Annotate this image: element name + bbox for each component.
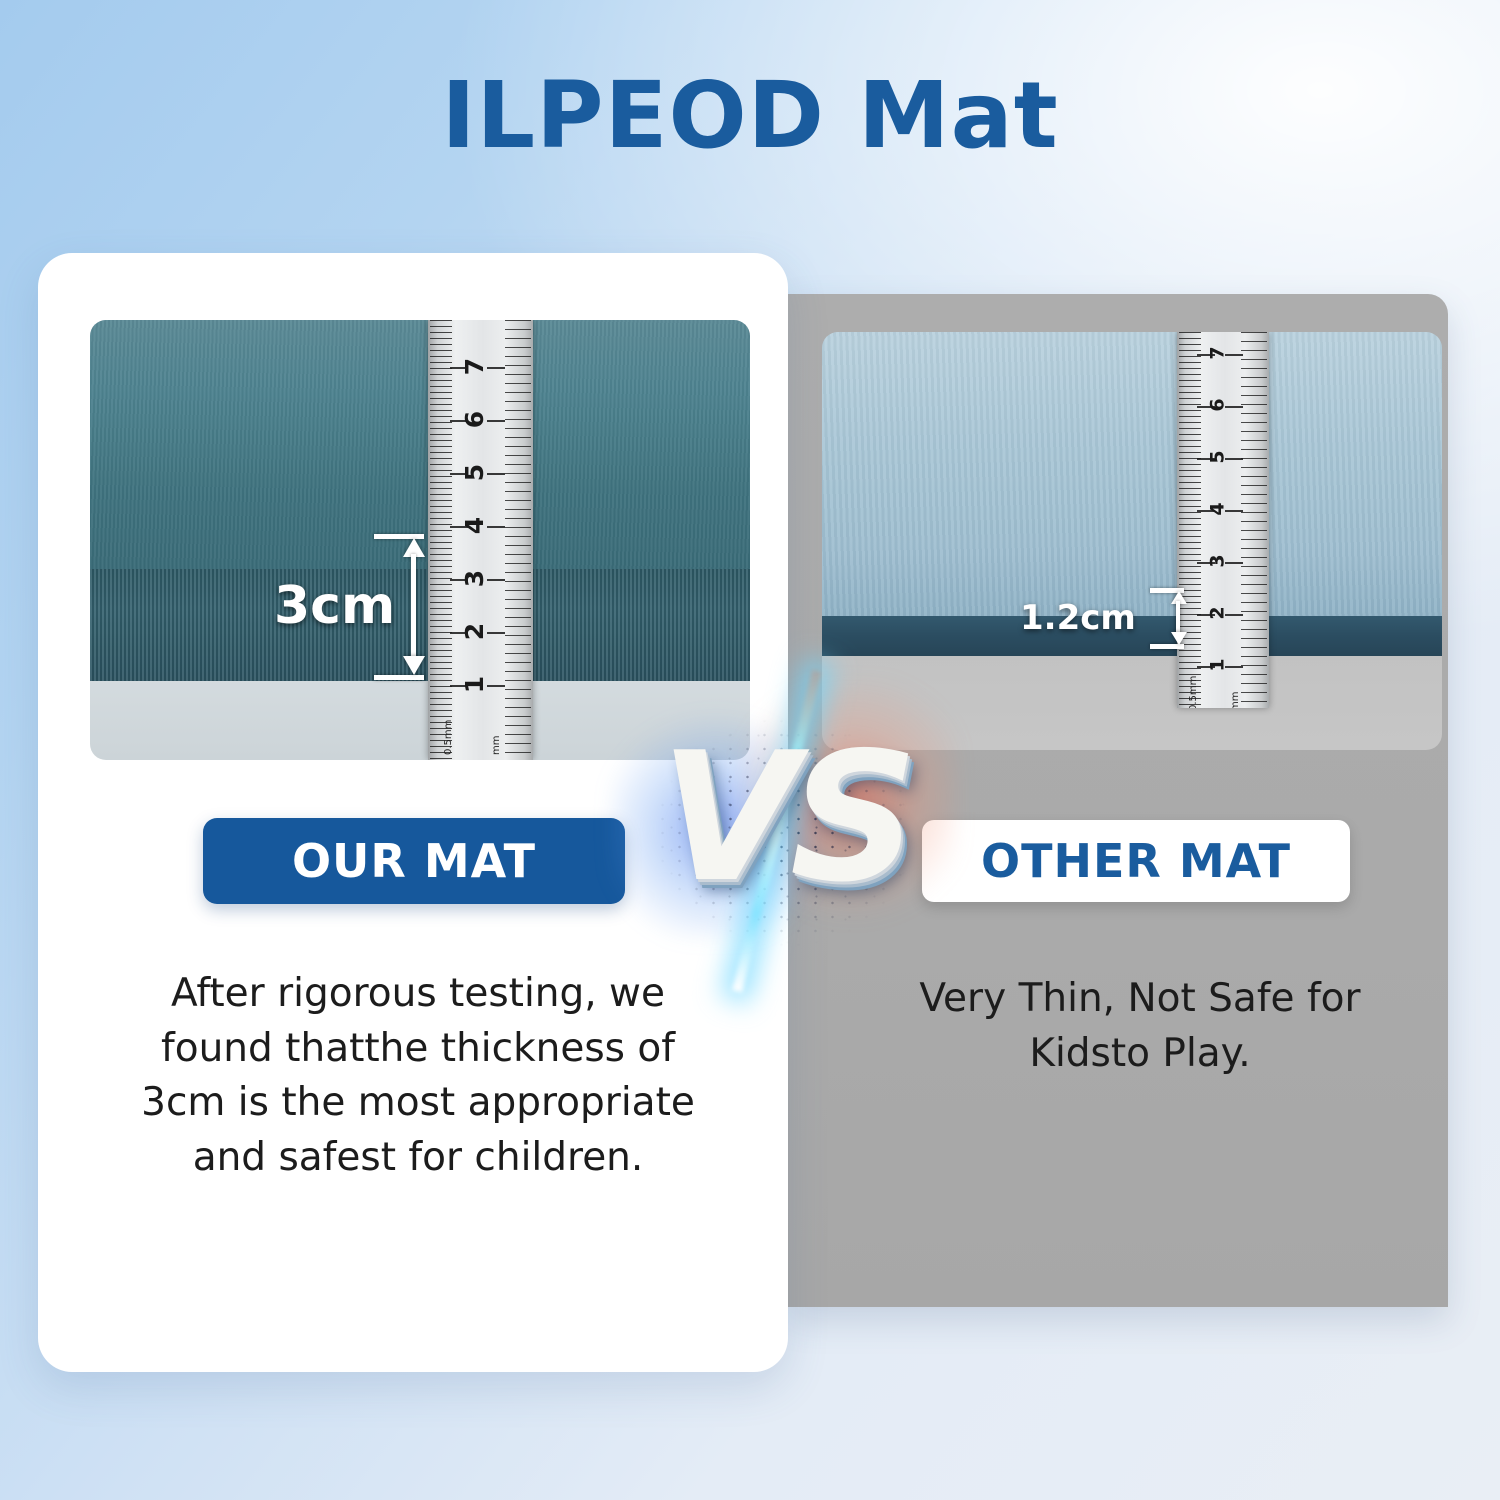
thickness-value-other: 1.2cm [1020,598,1136,638]
ruler-number: 6 [1207,398,1229,411]
ruler-scale-label-right: mm [491,736,502,755]
ruler-scale-label-left: 0.5mm [443,720,454,755]
ruler-number: 1 [1207,658,1229,671]
ruler-number: 7 [1207,346,1229,359]
ruler-number: 4 [1207,502,1229,515]
mat-top-surface [90,320,750,569]
ruler-number: 5 [1207,450,1229,463]
ruler-number: 7 [460,358,489,375]
other-mat-badge[interactable]: OTHER MAT [922,820,1350,902]
ruler-ticks-right [505,320,531,760]
ruler-ticks-right [1241,332,1267,708]
page-title: ILPEOD Mat [0,62,1500,169]
our-mat-description: After rigorous testing, we found thatthe… [138,967,698,1185]
ruler-number: 4 [460,517,489,534]
ruler-scale-label-right: mm [1230,692,1241,709]
versus-label: VS [620,714,950,921]
ruler-number: 3 [1207,554,1229,567]
thickness-value-our: 3cm [274,576,395,636]
our-mat-badge[interactable]: OUR MAT [203,818,625,904]
ruler-number: 5 [460,464,489,481]
thickness-callout-our: 3cm [374,534,504,680]
thickness-callout-other: 1.2cm [1150,588,1246,648]
ruler-scale-label-left: 0.5mm [1188,676,1199,709]
other-mat-description: Very Thin, Not Safe for Kidsto Play. [900,972,1380,1081]
steel-ruler: 7 6 5 4 3 2 1 0.5mm mm [1177,332,1269,708]
ruler-ticks-left [1179,332,1201,708]
versus-graphic: VS [620,672,950,992]
mat-top-surface [822,332,1442,616]
ruler-number: 6 [460,411,489,428]
